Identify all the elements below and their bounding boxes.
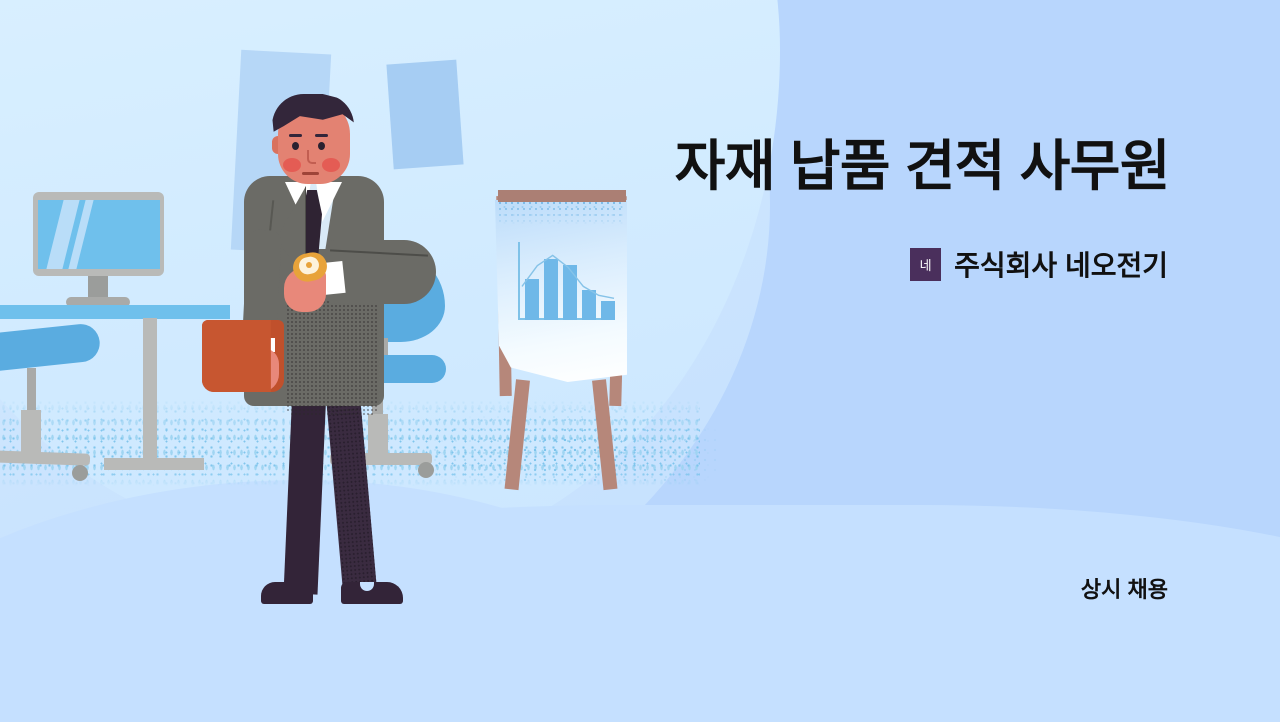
company-name: 주식회사 네오전기 xyxy=(954,244,1168,284)
desk-top xyxy=(0,305,230,319)
status-badge: 상시 채용 xyxy=(1081,572,1168,604)
job-posting-poster: 자재 납품 견적 사무원 네 주식회사 네오전기 상시 채용 xyxy=(0,0,1280,722)
desk-foot xyxy=(104,458,204,470)
company-row: 네 주식회사 네오전기 xyxy=(910,244,1168,284)
office-chair-left-post xyxy=(27,368,36,414)
man-jacket-texture xyxy=(286,296,378,416)
floor-speckle-texture-right xyxy=(430,405,720,485)
office-chair-right-wheel xyxy=(418,462,434,478)
job-title: 자재 납품 견적 사무원 xyxy=(0,136,1170,197)
man-shoe-left xyxy=(261,582,313,604)
company-badge-icon: 네 xyxy=(910,248,941,281)
office-chair-left-wheel xyxy=(72,465,88,481)
desk-leg xyxy=(143,318,157,464)
wristwatch-dial-dot xyxy=(306,262,312,268)
chart-trend-curve xyxy=(516,235,620,321)
flipchart-paper-speckle xyxy=(497,200,625,226)
